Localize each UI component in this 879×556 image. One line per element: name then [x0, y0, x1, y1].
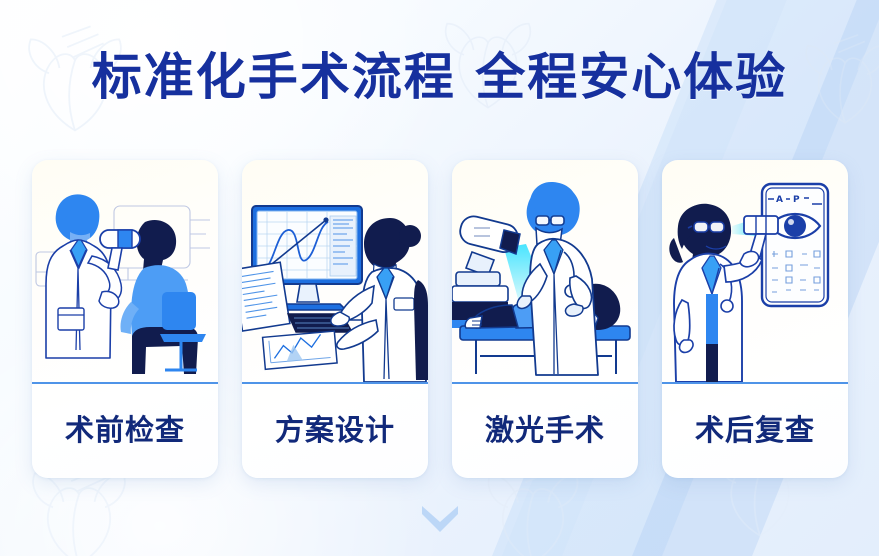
- step-card-plan-design[interactable]: 方案设计: [242, 160, 428, 478]
- eye-chart-letter: P: [793, 195, 800, 205]
- laser-surgery-illustration: [452, 160, 638, 382]
- step-card-post-op-review[interactable]: A P: [662, 160, 848, 478]
- eye-chart-letter: A: [776, 195, 783, 205]
- process-step-list: 术前检查: [32, 160, 848, 478]
- step-card-laser-surgery[interactable]: 激光手术: [452, 160, 638, 478]
- plan-design-illustration: [242, 160, 428, 382]
- post-op-review-illustration: A P: [662, 160, 848, 382]
- promo-banner: 标准化手术流程 全程安心体验: [0, 0, 879, 556]
- page-title: 标准化手术流程 全程安心体验: [92, 48, 787, 107]
- step-label: 激光手术: [452, 384, 638, 478]
- step-label: 术后复查: [662, 384, 848, 478]
- chevron-down-arrow-icon: [416, 502, 464, 536]
- step-label: 术前检查: [32, 384, 218, 478]
- step-label: 方案设计: [242, 384, 428, 478]
- pre-op-exam-illustration: [32, 160, 218, 382]
- banner-header: 标准化手术流程 全程安心体验: [0, 14, 879, 140]
- step-card-pre-op-exam[interactable]: 术前检查: [32, 160, 218, 478]
- scroll-hint-arrow[interactable]: [416, 502, 464, 540]
